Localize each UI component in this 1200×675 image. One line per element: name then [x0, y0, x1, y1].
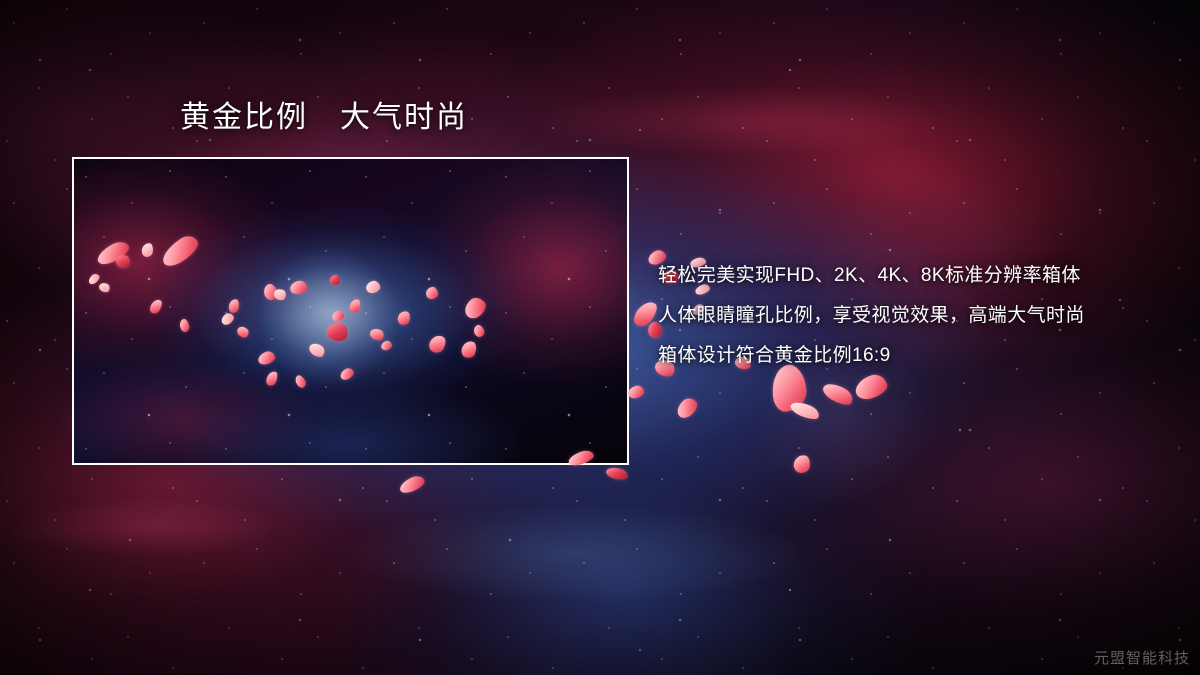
watermark: 元盟智能科技 [1094, 647, 1190, 668]
body-line-3: 箱体设计符合黄金比例16:9 [658, 336, 1158, 376]
petal [852, 372, 889, 403]
page-title: 黄金比例 大气时尚 [180, 100, 468, 136]
body-line-1: 轻松完美实现FHD、2K、4K、8K标准分辨率箱体 [658, 256, 1158, 296]
framed-image [72, 157, 629, 465]
petal [789, 399, 822, 422]
presentation-slide: 黄金比例 大气时尚 [0, 0, 1200, 675]
petal [627, 384, 645, 400]
petal [397, 473, 426, 495]
petal [792, 454, 811, 475]
body-line-2: 人体眼睛瞳孔比例，享受视觉效果，高端大气时尚 [658, 296, 1158, 336]
petal [820, 379, 856, 408]
image-core-glow [74, 159, 627, 463]
petal [630, 298, 661, 331]
petal [605, 466, 629, 482]
body-text-block: 轻松完美实现FHD、2K、4K、8K标准分辨率箱体 人体眼睛瞳孔比例，享受视觉效… [658, 256, 1158, 376]
petal [673, 395, 700, 422]
